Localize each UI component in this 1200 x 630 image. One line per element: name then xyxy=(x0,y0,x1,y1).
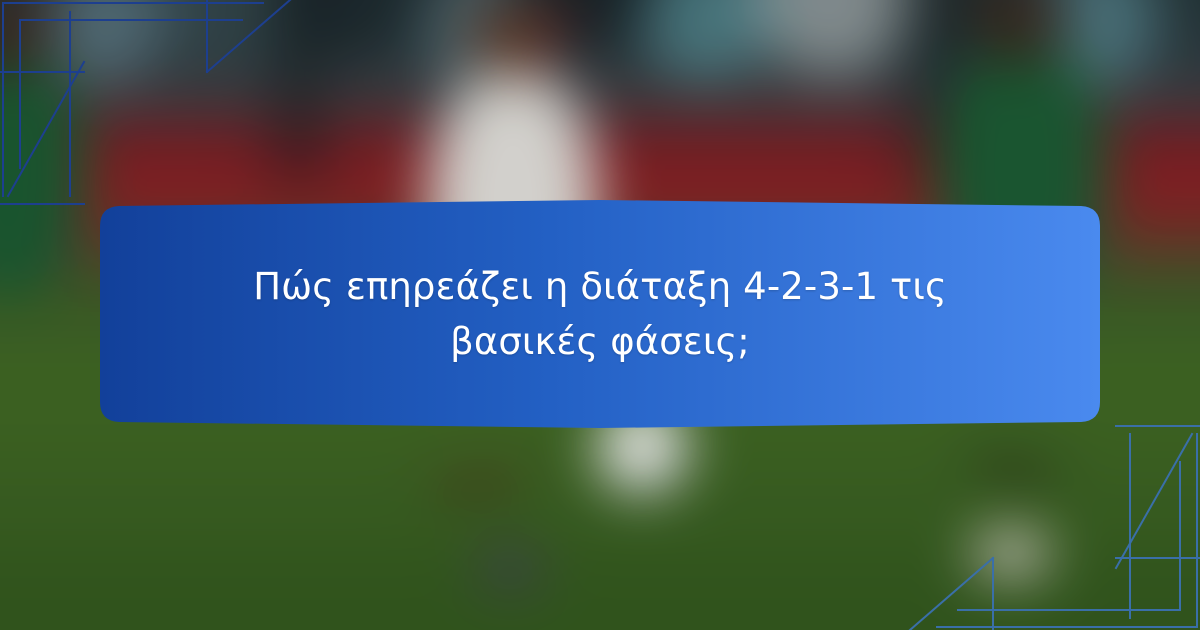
headline-text-container: Πώς επηρεάζει η διάταξη 4-2-3-1 τις βασι… xyxy=(100,200,1100,428)
headline-card: Πώς επηρεάζει η διάταξη 4-2-3-1 τις βασι… xyxy=(100,200,1100,428)
share-card-canvas: Πώς επηρεάζει η διάταξη 4-2-3-1 τις βασι… xyxy=(0,0,1200,630)
page-title: Πώς επηρεάζει η διάταξη 4-2-3-1 τις βασι… xyxy=(192,259,1008,370)
